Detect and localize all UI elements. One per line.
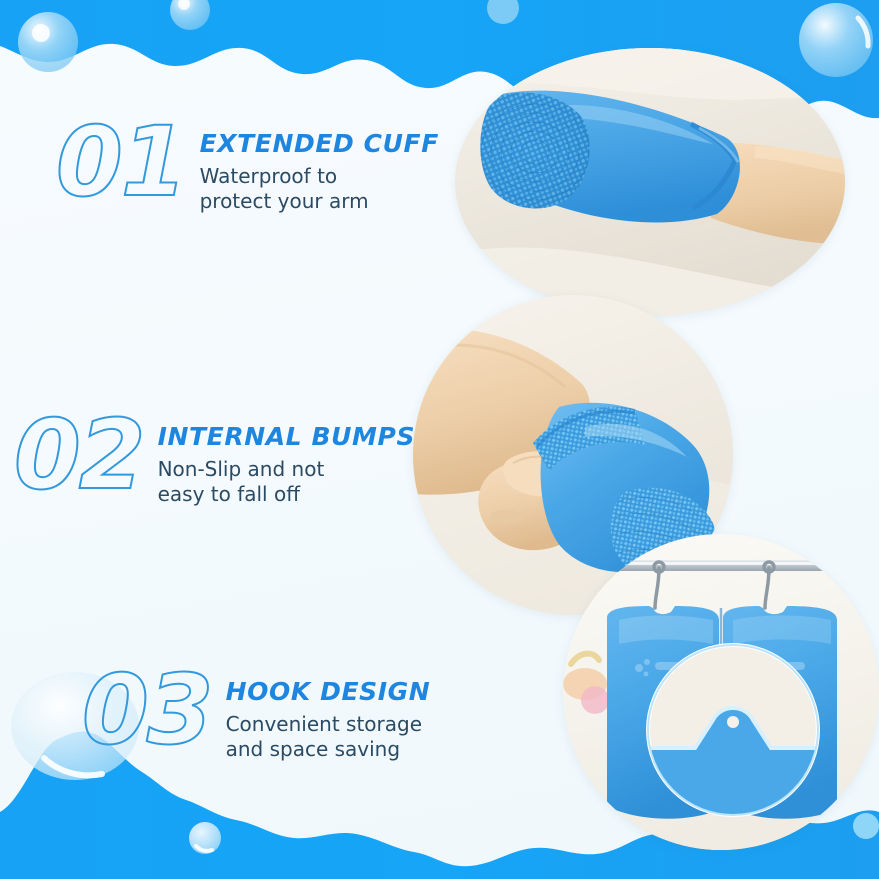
feature-item-internal-bumps: 02 INTERNAL BUMPS Non-Slip and not easy … <box>14 405 415 508</box>
feature-text-block: INTERNAL BUMPS Non-Slip and not easy to … <box>158 405 415 508</box>
feature-desc-line-1: Waterproof to <box>200 164 439 190</box>
bubble-bottom-right-small <box>853 813 879 839</box>
feature-text-block: HOOK DESIGN Convenient storage and space… <box>226 660 431 763</box>
feature-desc-line-2: easy to fall off <box>158 482 415 508</box>
feature-list: 01 EXTENDED CUFF Waterproof to protect y… <box>0 0 470 879</box>
feature-title-hook-design: HOOK DESIGN <box>226 678 431 706</box>
extended-cuff-photo <box>455 48 845 316</box>
bubble-top-right <box>799 3 873 77</box>
feature-desc-line-2: protect your arm <box>200 189 439 215</box>
feature-number-02: 02 <box>14 407 144 503</box>
feature-title-internal-bumps: INTERNAL BUMPS <box>158 423 415 451</box>
feature-item-extended-cuff: 01 EXTENDED CUFF Waterproof to protect y… <box>56 112 439 215</box>
feature-desc-line-1: Non-Slip and not <box>158 457 415 483</box>
feature-infographic-poster: 01 EXTENDED CUFF Waterproof to protect y… <box>0 0 879 879</box>
feature-text-block: EXTENDED CUFF Waterproof to protect your… <box>200 112 439 215</box>
feature-desc-line-1: Convenient storage <box>226 712 431 738</box>
feature-number-03: 03 <box>82 662 212 758</box>
feature-desc-line-2: and space saving <box>226 737 431 763</box>
feature-title-extended-cuff: EXTENDED CUFF <box>200 130 439 158</box>
feature-item-hook-design: 03 HOOK DESIGN Convenient storage and sp… <box>82 660 430 763</box>
bubble-top-mid <box>487 0 519 24</box>
feature-number-01: 01 <box>56 114 186 210</box>
hook-design-photo <box>563 534 879 850</box>
